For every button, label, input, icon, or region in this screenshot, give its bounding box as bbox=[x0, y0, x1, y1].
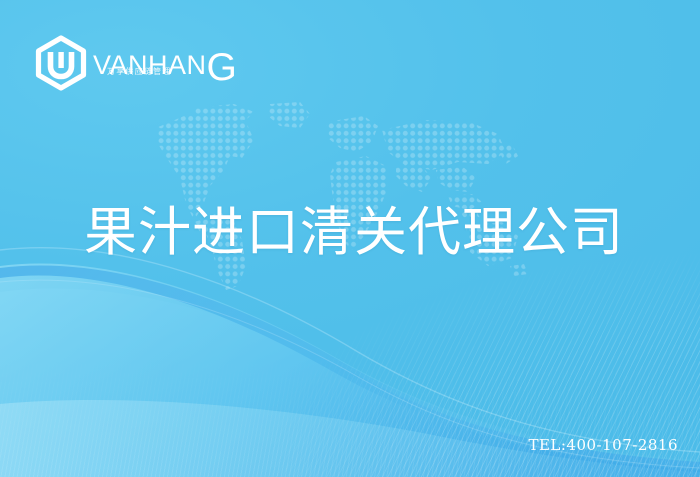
banner-canvas: VANHANG 万享供应链管理 果汁进口清关代理公司 TEL:400-107-2… bbox=[0, 0, 700, 477]
page-title: 果汁进口清关代理公司 bbox=[84, 204, 624, 261]
vanhang-hexagon-u-icon bbox=[33, 35, 89, 91]
brand-subtitle: 万享供应链管理 bbox=[107, 68, 171, 76]
contact-telephone: TEL:400-107-2816 bbox=[528, 438, 678, 453]
brand-logo: VANHANG 万享供应链管理 bbox=[33, 34, 233, 92]
wordmark-accent-g: G bbox=[207, 46, 237, 89]
